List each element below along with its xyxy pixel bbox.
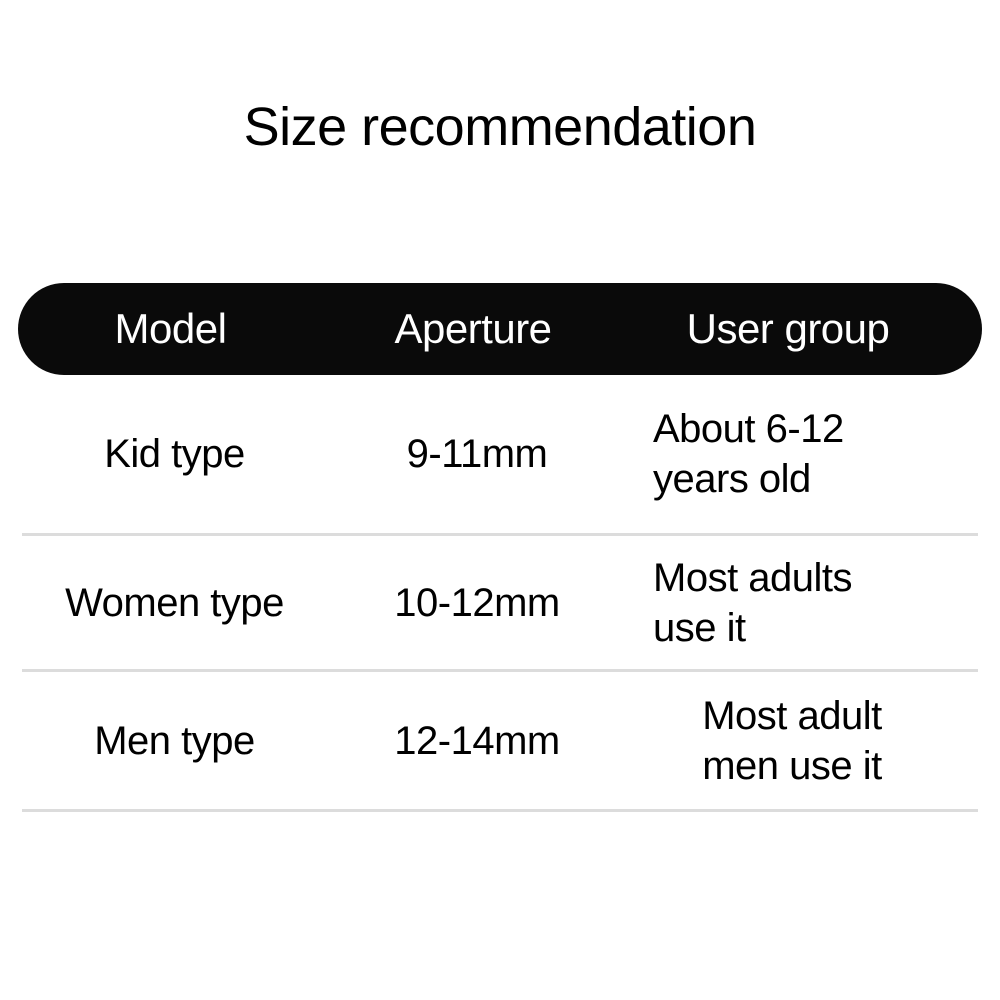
- cell-aperture: 9-11mm: [327, 429, 627, 479]
- page-title: Size recommendation: [0, 96, 1000, 158]
- size-recommendation-table: Model Aperture User group Kid type 9-11m…: [0, 283, 1000, 812]
- column-header-user-group: User group: [623, 306, 953, 352]
- column-header-aperture: Aperture: [323, 306, 623, 352]
- cell-aperture: 12-14mm: [327, 716, 627, 766]
- size-recommendation-page: Size recommendation Model Aperture User …: [0, 0, 1000, 1000]
- cell-user-group-line-1: Most adult: [627, 691, 957, 741]
- cell-user-group-line-2: years old: [653, 454, 957, 504]
- cell-user-group-line-2: men use it: [627, 741, 957, 791]
- cell-model: Men type: [22, 716, 327, 766]
- table-body: Kid type 9-11mm About 6-12 years old Wom…: [22, 375, 978, 812]
- table-row: Kid type 9-11mm About 6-12 years old: [22, 375, 978, 536]
- cell-user-group-line-2: use it: [653, 603, 957, 653]
- cell-user-group-line-1: About 6-12: [653, 404, 957, 454]
- cell-model: Kid type: [22, 429, 327, 479]
- cell-user-group: Most adult men use it: [627, 691, 957, 791]
- cell-model: Women type: [22, 578, 327, 628]
- cell-aperture: 10-12mm: [327, 578, 627, 628]
- cell-user-group-line-1: Most adults: [653, 553, 957, 603]
- table-header-row: Model Aperture User group: [18, 283, 982, 375]
- cell-user-group: Most adults use it: [627, 553, 957, 653]
- table-row: Men type 12-14mm Most adult men use it: [22, 672, 978, 812]
- table-row: Women type 10-12mm Most adults use it: [22, 536, 978, 672]
- column-header-model: Model: [18, 306, 323, 352]
- cell-user-group: About 6-12 years old: [627, 404, 957, 504]
